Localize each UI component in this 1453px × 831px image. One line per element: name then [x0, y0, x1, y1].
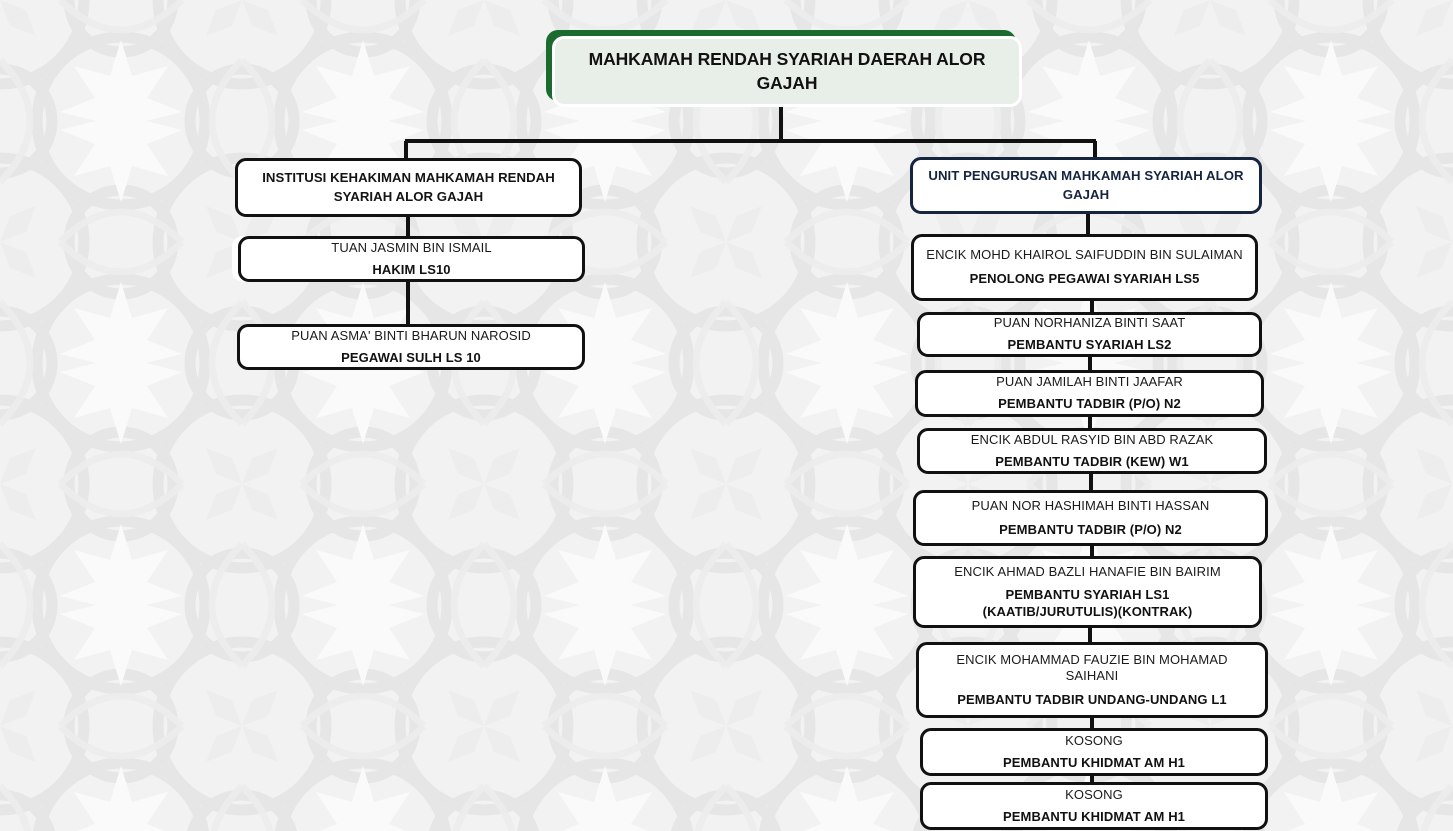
node-encik-ahmad-bazli-hanafie-bin-bairim[interactable]: ENCIK AHMAD BAZLI HANAFIE BIN BAIRIM PEM… [913, 556, 1262, 628]
person-name: ENCIK MOHD KHAIROL SAIFUDDIN BIN SULAIMA… [926, 247, 1242, 264]
person-post: PEMBANTU KHIDMAT AM H1 [1003, 809, 1185, 826]
root-node[interactable]: MAHKAMAH RENDAH SYARIAH DAERAH ALOR GAJA… [546, 30, 1016, 101]
person-post: PEMBANTU KHIDMAT AM H1 [1003, 755, 1185, 772]
person-post: PEMBANTU TADBIR UNDANG-UNDANG L1 [957, 692, 1226, 709]
branch-header-title: INSTITUSI KEHAKIMAN MAHKAMAH RENDAH SYAR… [248, 169, 569, 206]
person-name: PUAN NORHANIZA BINTI SAAT [994, 315, 1186, 332]
node-puan-asma-binti-bharun-narosid[interactable]: PUAN ASMA' BINTI BHARUN NAROSID PEGAWAI … [237, 324, 585, 370]
node-encik-mohd-khairol-saifuddin-bin-sulaiman[interactable]: ENCIK MOHD KHAIROL SAIFUDDIN BIN SULAIMA… [911, 234, 1258, 301]
branch-header-title: UNIT PENGURUSAN MAHKAMAH SYARIAH ALOR GA… [923, 167, 1249, 204]
node-puan-nor-hashimah-binti-hassan[interactable]: PUAN NOR HASHIMAH BINTI HASSAN PEMBANTU … [913, 490, 1268, 546]
person-post: HAKIM LS10 [372, 262, 450, 279]
person-post: PEGAWAI SULH LS 10 [341, 350, 481, 367]
person-name: TUAN JASMIN BIN ISMAIL [331, 240, 491, 257]
node-kosong-pembantu-khidmat-am-2[interactable]: KOSONG PEMBANTU KHIDMAT AM H1 [920, 782, 1268, 830]
person-name: PUAN NOR HASHIMAH BINTI HASSAN [972, 498, 1210, 515]
person-post: PEMBANTU TADBIR (KEW) W1 [995, 454, 1189, 471]
person-name: ENCIK ABDUL RASYID BIN ABD RAZAK [971, 432, 1214, 449]
person-post: PEMBANTU TADBIR (P/O) N2 [999, 522, 1182, 539]
node-puan-jamilah-binti-jaafar[interactable]: PUAN JAMILAH BINTI JAAFAR PEMBANTU TADBI… [915, 370, 1264, 417]
branch-header-institusi-kehakiman[interactable]: INSTITUSI KEHAKIMAN MAHKAMAH RENDAH SYAR… [235, 158, 582, 217]
node-encik-abdul-rasyid-bin-abd-razak[interactable]: ENCIK ABDUL RASYID BIN ABD RAZAK PEMBANT… [917, 428, 1267, 474]
branch-header-unit-pengurusan[interactable]: UNIT PENGURUSAN MAHKAMAH SYARIAH ALOR GA… [910, 157, 1262, 214]
person-post: PEMBANTU SYARIAH LS2 [1007, 337, 1171, 354]
person-name: ENCIK AHMAD BAZLI HANAFIE BIN BAIRIM [954, 564, 1221, 581]
person-name: PUAN JAMILAH BINTI JAAFAR [996, 374, 1183, 391]
person-post: PEMBANTU SYARIAH LS1 (KAATIB/JURUTULIS)(… [983, 587, 1193, 620]
person-post: PENOLONG PEGAWAI SYARIAH LS5 [970, 271, 1200, 288]
person-name: KOSONG [1065, 787, 1123, 804]
node-tuan-jasmin-bin-ismail[interactable]: TUAN JASMIN BIN ISMAIL HAKIM LS10 [238, 236, 585, 282]
root-node-inner: MAHKAMAH RENDAH SYARIAH DAERAH ALOR GAJA… [552, 36, 1022, 107]
person-name: PUAN ASMA' BINTI BHARUN NAROSID [291, 328, 531, 345]
node-puan-norhaniza-binti-saat[interactable]: PUAN NORHANIZA BINTI SAAT PEMBANTU SYARI… [917, 312, 1262, 357]
node-encik-mohammad-fauzie-bin-mohamad-saihani[interactable]: ENCIK MOHAMMAD FAUZIE BIN MOHAMAD SAIHAN… [916, 642, 1268, 718]
person-name: KOSONG [1065, 733, 1123, 750]
node-kosong-pembantu-khidmat-am-1[interactable]: KOSONG PEMBANTU KHIDMAT AM H1 [920, 728, 1268, 776]
organization-chart: MAHKAMAH RENDAH SYARIAH DAERAH ALOR GAJA… [0, 0, 1453, 831]
person-post: PEMBANTU TADBIR (P/O) N2 [998, 396, 1181, 413]
root-title: MAHKAMAH RENDAH SYARIAH DAERAH ALOR GAJA… [567, 48, 1007, 95]
person-name: ENCIK MOHAMMAD FAUZIE BIN MOHAMAD SAIHAN… [929, 652, 1255, 685]
